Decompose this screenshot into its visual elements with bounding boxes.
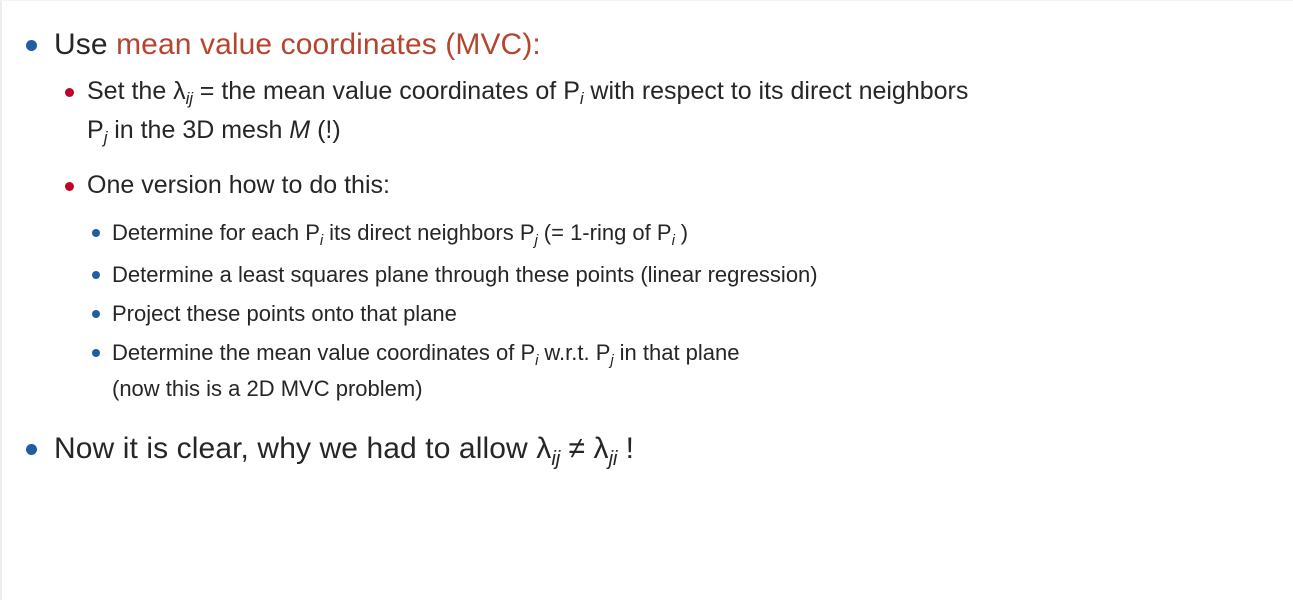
- det-neighbors-d: ): [675, 220, 688, 245]
- bullet-one-version: One version how to do this:: [2, 167, 1293, 204]
- mesh-symbol-m: M: [289, 116, 310, 144]
- p-subscript-j: j: [610, 352, 613, 369]
- bullet-least-squares-plane: Determine a least squares plane through …: [2, 258, 1293, 291]
- lambda-symbol: λ: [536, 432, 551, 465]
- p-subscript-i: i: [320, 232, 323, 249]
- now-clear-b: !: [617, 432, 634, 465]
- use-mvc-lead: Use: [54, 28, 116, 61]
- bullet-determine-mvc: Determine the mean value coordinates of …: [2, 336, 1293, 405]
- lambda-subscript-ji: ji: [609, 448, 618, 470]
- slide-canvas: Use mean value coordinates (MVC): Set th…: [0, 0, 1293, 600]
- bullet-dot-icon: [92, 229, 100, 237]
- bullet-one-version-text: One version how to do this:: [87, 167, 1293, 204]
- set-lambda-e: in the 3D mesh: [107, 116, 289, 144]
- bullet-dot-icon: [26, 444, 37, 455]
- bullet-dot-icon: [92, 310, 100, 318]
- set-lambda-b: = the mean value coordinates of P: [193, 77, 580, 105]
- bullet-determine-neighbors-text: Determine for each Pi its direct neighbo…: [112, 216, 1293, 252]
- bullet-now-it-is-clear-text: Now it is clear, why we had to allow λij…: [54, 427, 1293, 474]
- lambda-subscript-ij: ij: [186, 89, 193, 108]
- determine-mvc-line-1: Determine the mean value coordinates of …: [112, 336, 1293, 372]
- bullet-dot-icon: [92, 271, 100, 279]
- bullet-dot-icon: [65, 88, 74, 97]
- det-mvc-b: w.r.t. P: [538, 340, 610, 365]
- set-lambda-c: with respect to its direct neighbors: [583, 77, 968, 105]
- lambda-symbol: λ: [593, 432, 608, 465]
- det-neighbors-a: Determine for each P: [112, 220, 320, 245]
- set-lambda-line-1: Set the λij = the mean value coordinates…: [87, 73, 1293, 112]
- bullet-now-it-is-clear: Now it is clear, why we had to allow λij…: [2, 427, 1293, 474]
- p-subscript-j: j: [535, 232, 538, 249]
- determine-mvc-line-2: (now this is a 2D MVC problem): [112, 372, 1293, 405]
- p-subscript-i: i: [535, 352, 538, 369]
- bullet-project-points-text: Project these points onto that plane: [112, 297, 1293, 330]
- det-mvc-c: in that plane: [614, 340, 740, 365]
- use-mvc-tail: :: [532, 28, 540, 61]
- bullet-set-lambda: Set the λij = the mean value coordinates…: [2, 73, 1293, 151]
- det-neighbors-b: its direct neighbors P: [323, 220, 535, 245]
- set-lambda-d: P: [87, 116, 104, 144]
- bullet-use-mvc: Use mean value coordinates (MVC):: [2, 23, 1293, 67]
- set-lambda-line-2: Pj in the 3D mesh M (!): [87, 112, 1293, 151]
- p-subscript-j: j: [104, 128, 108, 147]
- now-clear-a: Now it is clear, why we had to allow: [54, 432, 536, 465]
- bullet-determine-neighbors: Determine for each Pi its direct neighbo…: [2, 216, 1293, 252]
- bullet-dot-icon: [65, 182, 74, 191]
- bullet-use-mvc-text: Use mean value coordinates (MVC):: [54, 23, 1293, 67]
- lambda-symbol: λ: [173, 77, 186, 105]
- not-equal-symbol: ≠: [560, 432, 593, 465]
- set-lambda-a: Set the: [87, 77, 173, 105]
- lambda-subscript-ij: ij: [551, 448, 560, 470]
- det-neighbors-c: (= 1-ring of P: [538, 220, 672, 245]
- p-subscript-i: i: [580, 89, 584, 108]
- p-subscript-i: i: [672, 232, 675, 249]
- bullet-determine-mvc-text: Determine the mean value coordinates of …: [112, 336, 1293, 405]
- det-mvc-a: Determine the mean value coordinates of …: [112, 340, 535, 365]
- set-lambda-f: (!): [310, 116, 341, 144]
- slide-content: Use mean value coordinates (MVC): Set th…: [2, 23, 1293, 480]
- bullet-least-squares-plane-text: Determine a least squares plane through …: [112, 258, 1293, 291]
- bullet-set-lambda-text: Set the λij = the mean value coordinates…: [87, 73, 1293, 151]
- use-mvc-accent: mean value coordinates (MVC): [116, 28, 532, 61]
- bullet-project-points: Project these points onto that plane: [2, 297, 1293, 330]
- bullet-dot-icon: [92, 349, 100, 357]
- bullet-dot-icon: [26, 40, 37, 51]
